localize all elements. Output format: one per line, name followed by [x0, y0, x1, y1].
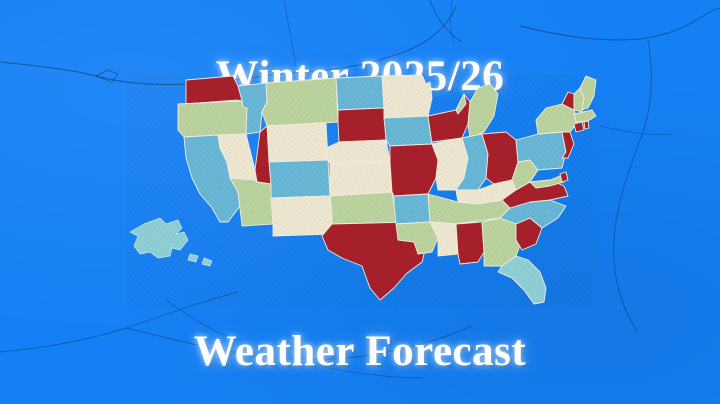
state-ar [394, 194, 430, 224]
state-mn [382, 75, 432, 118]
state-nd [336, 76, 384, 110]
state-mo [390, 144, 438, 196]
state-ks [330, 162, 392, 196]
state-ia [384, 116, 432, 146]
state-oh [482, 132, 518, 184]
state-ne [326, 140, 390, 164]
state-ma [574, 110, 596, 122]
state-me [580, 76, 596, 110]
page-subtitle: Weather Forecast [0, 330, 720, 373]
us-weather-map [126, 74, 596, 306]
state-co [269, 160, 330, 198]
state-wa [186, 76, 246, 104]
poster-canvas: Winter 2025/26 Weather Forecast [0, 0, 720, 404]
state-or [178, 101, 247, 137]
state-mt [262, 78, 338, 126]
state-wy [267, 123, 328, 162]
state-fl [498, 256, 546, 304]
state-al [456, 222, 484, 264]
state-de [560, 172, 568, 182]
state-ak [130, 218, 212, 266]
state-nm [271, 196, 332, 236]
state-ri [584, 121, 589, 129]
state-sd [338, 108, 386, 142]
state-ct [574, 122, 584, 132]
